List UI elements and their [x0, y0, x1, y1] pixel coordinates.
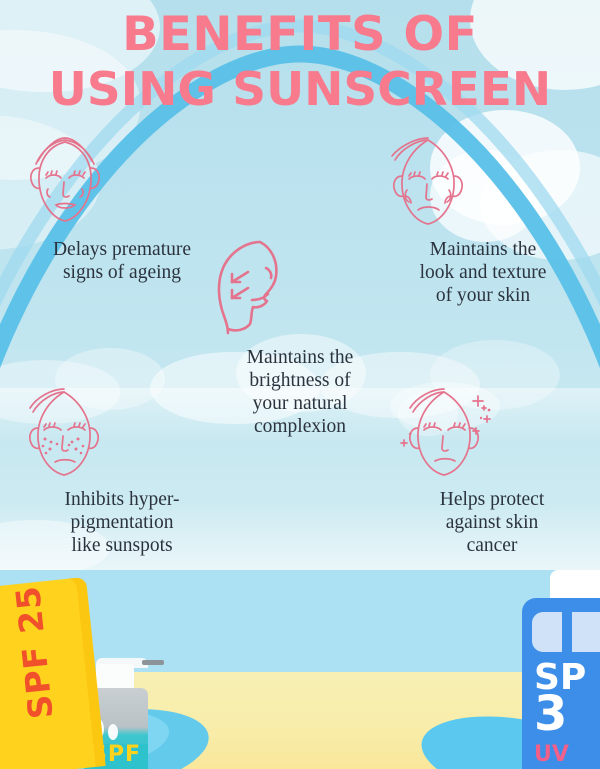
- caption-line: pigmentation: [71, 512, 174, 533]
- caption-line: Inhibits hyper-: [65, 489, 180, 510]
- benefit-hyperpigmentation: Inhibits hyper- pigmentation like sunspo…: [14, 384, 230, 557]
- caption-line: cancer: [467, 535, 518, 556]
- caption-line: brightness of: [249, 370, 350, 391]
- title-line-1: BENEFITS OF: [0, 8, 600, 62]
- caption-line: signs of ageing: [63, 262, 181, 283]
- pump-nozzle: [142, 660, 164, 665]
- caption-line: your natural: [253, 393, 348, 414]
- blue-bottle-label: SP 3: [522, 658, 600, 734]
- face-closed-eyes-icon: [12, 134, 232, 230]
- benefit-caption: Helps protect against skin cancer: [392, 488, 592, 557]
- caption-line: against skin: [446, 512, 539, 533]
- caption-line: Maintains the: [247, 347, 354, 368]
- bottle-cap: [532, 612, 600, 652]
- benefit-caption: Inhibits hyper- pigmentation like sunspo…: [14, 488, 230, 557]
- page-title: BENEFITS OF USING SUNSCREEN: [0, 8, 600, 116]
- sunscreen-benefits-infographic: BENEFITS OF USING SUNSCREEN: [0, 0, 600, 769]
- sunscreen-bottle-blue: SP 3 UV: [522, 598, 600, 769]
- pump-highlight: [108, 724, 118, 740]
- caption-line: of your skin: [436, 285, 530, 306]
- benefit-caption: Maintains the look and texture of your s…: [378, 238, 588, 307]
- spf-number: 3: [534, 694, 600, 734]
- face-profile-arrows-icon: [198, 238, 402, 338]
- face-freckles-icon: [14, 384, 230, 480]
- uv-label: UV: [534, 742, 569, 767]
- caption-line: Maintains the: [430, 239, 537, 260]
- caption-line: look and texture: [420, 262, 547, 283]
- caption-line: Delays premature: [53, 239, 191, 260]
- caption-line: complexion: [254, 416, 346, 437]
- face-sparkles-icon: [392, 384, 592, 480]
- title-line-2: USING SUNSCREEN: [0, 62, 600, 116]
- face-frowning-icon: [378, 134, 588, 230]
- caption-line: like sunspots: [71, 535, 172, 556]
- benefit-look-and-texture: Maintains the look and texture of your s…: [378, 134, 588, 307]
- caption-line: Helps protect: [440, 489, 545, 510]
- spf-25-label: SPF 25: [5, 556, 64, 749]
- benefit-skin-cancer: Helps protect against skin cancer: [392, 384, 592, 557]
